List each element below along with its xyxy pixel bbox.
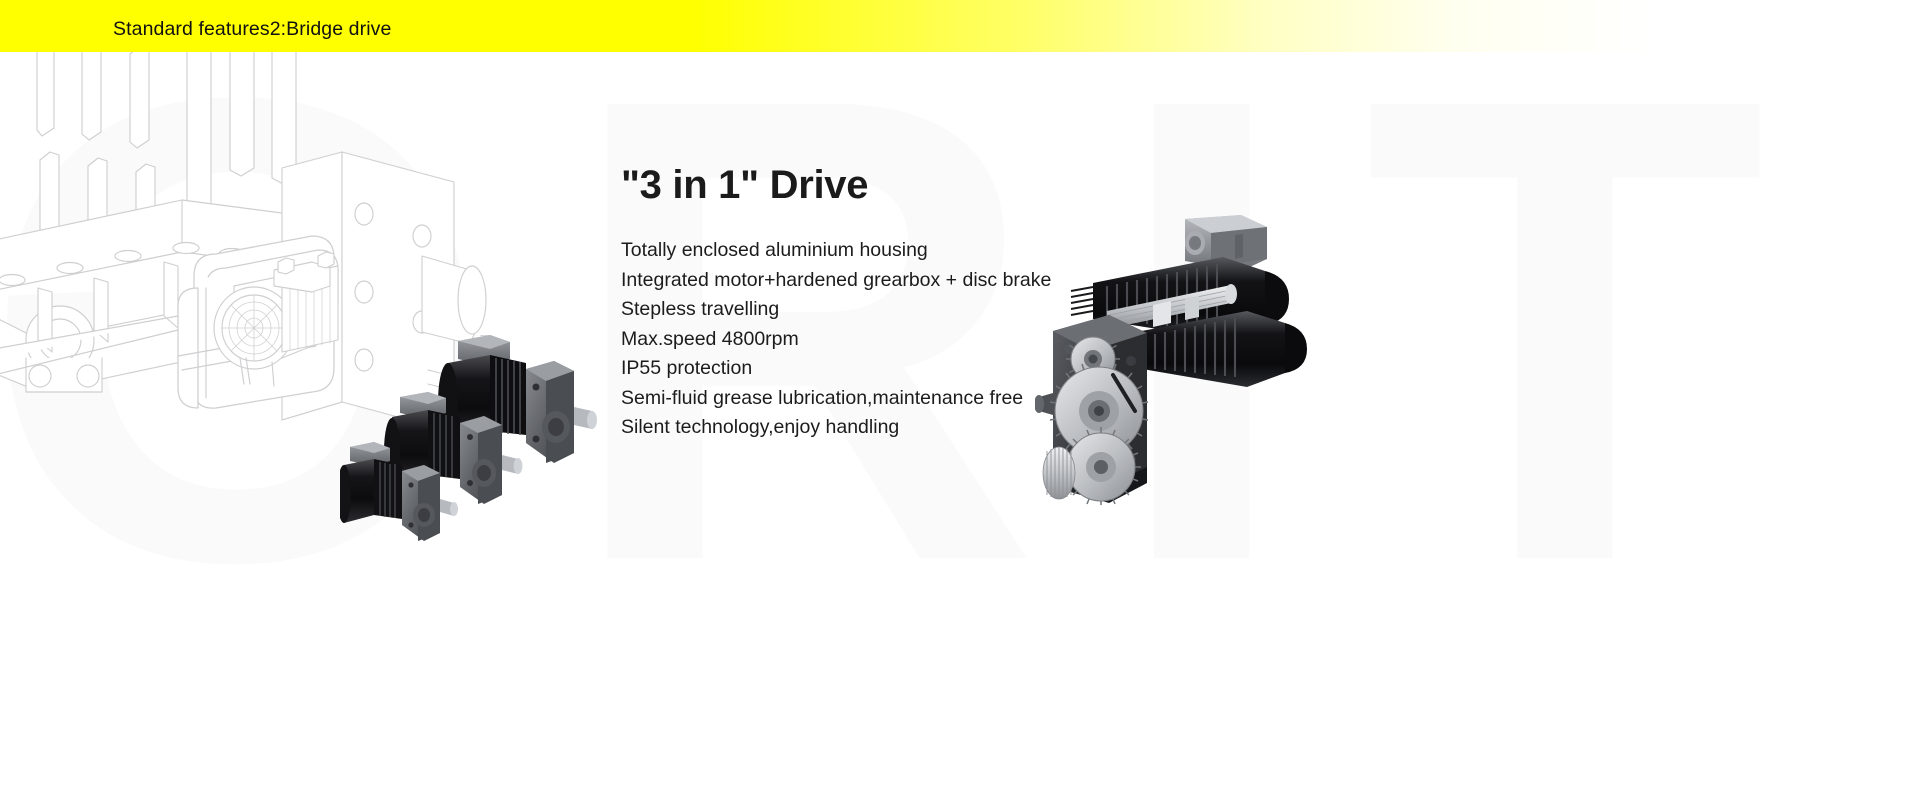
three-geared-motor-drives [340,335,620,550]
header-title: Standard features2:Bridge drive [113,18,391,41]
cutaway-gearbox-drive-unit [1035,215,1335,505]
page-title: "3 in 1" Drive [621,160,1181,210]
slide-root: ORIT [0,0,1920,800]
